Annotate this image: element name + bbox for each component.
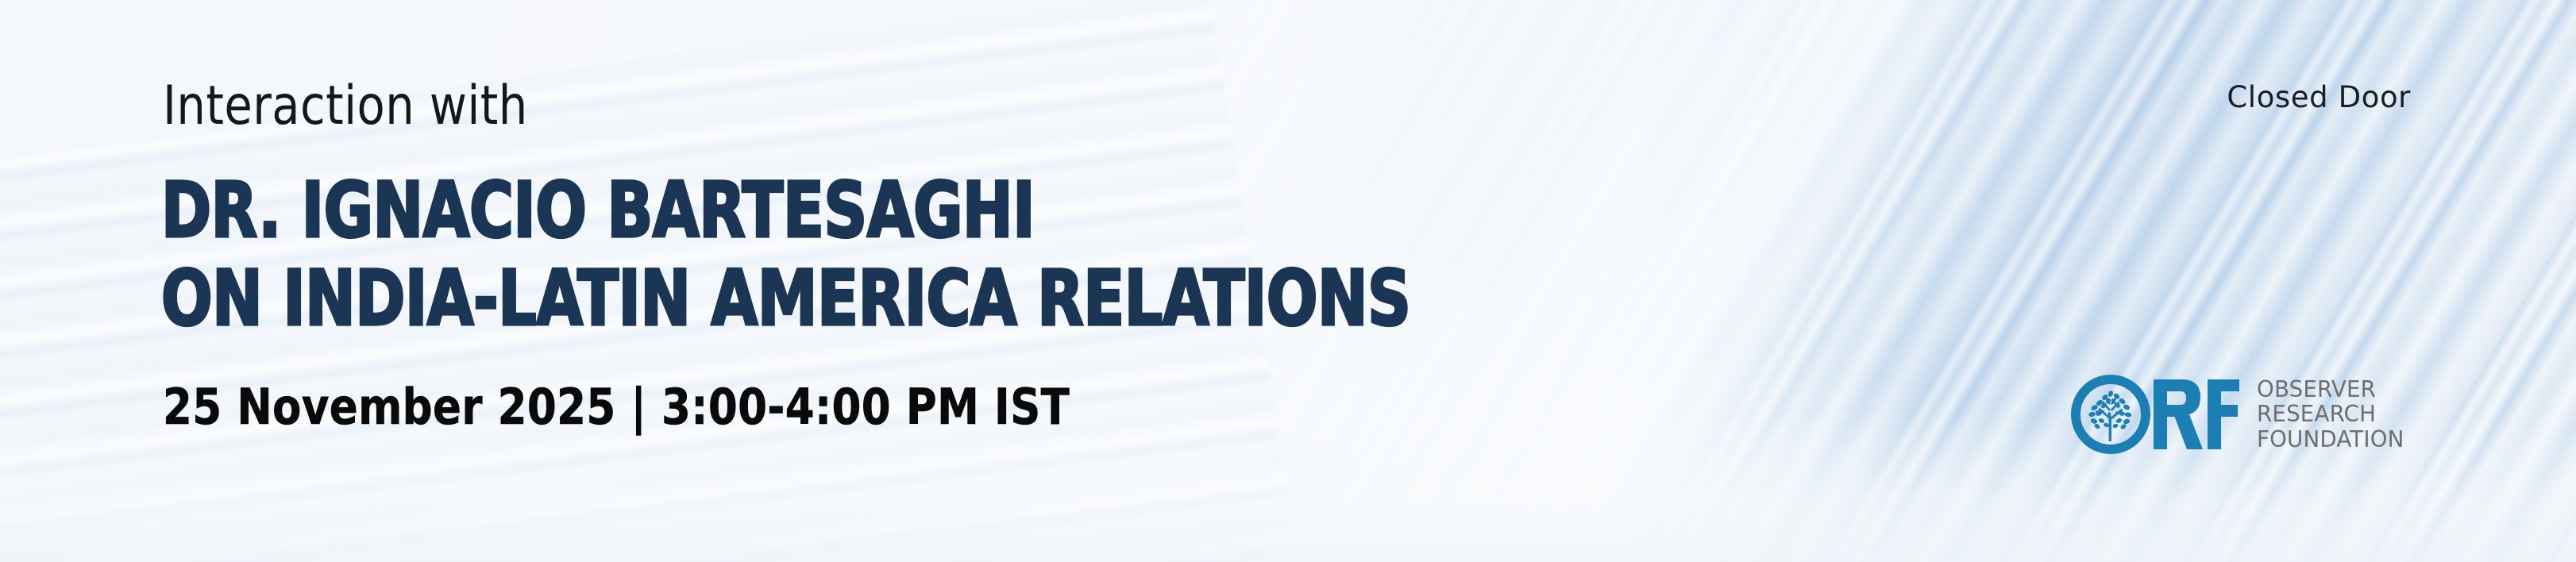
orf-name-line-2: RESEARCH [2257, 402, 2404, 426]
event-title-line-1: DR. IGNACIO BARTESAGHI [161, 167, 1410, 255]
event-title: DR. IGNACIO BARTESAGHI ON INDIA-LATIN AM… [161, 167, 1581, 344]
event-datetime: 25 November 2025 | 3:00-4:00 PM IST [163, 383, 1070, 432]
tree-in-circle-icon [2088, 390, 2132, 441]
event-title-line-2: ON INDIA-LATIN AMERICA RELATIONS [161, 255, 1410, 343]
orf-logo[interactable]: OBSERVER RESEARCH FOUNDATION [2071, 367, 2420, 462]
access-label: Closed Door [2227, 83, 2411, 112]
event-banner: Interaction with DR. IGNACIO BARTESAGHI … [0, 0, 2576, 562]
orf-full-name: OBSERVER RESEARCH FOUNDATION [2257, 377, 2404, 452]
banner-content: Interaction with DR. IGNACIO BARTESAGHI … [0, 0, 2576, 562]
orf-name-line-3: FOUNDATION [2257, 427, 2404, 452]
orf-wordmark-icon [2071, 375, 2239, 454]
orf-name-line-1: OBSERVER [2257, 377, 2404, 402]
eyebrow-text: Interaction with [163, 79, 528, 133]
